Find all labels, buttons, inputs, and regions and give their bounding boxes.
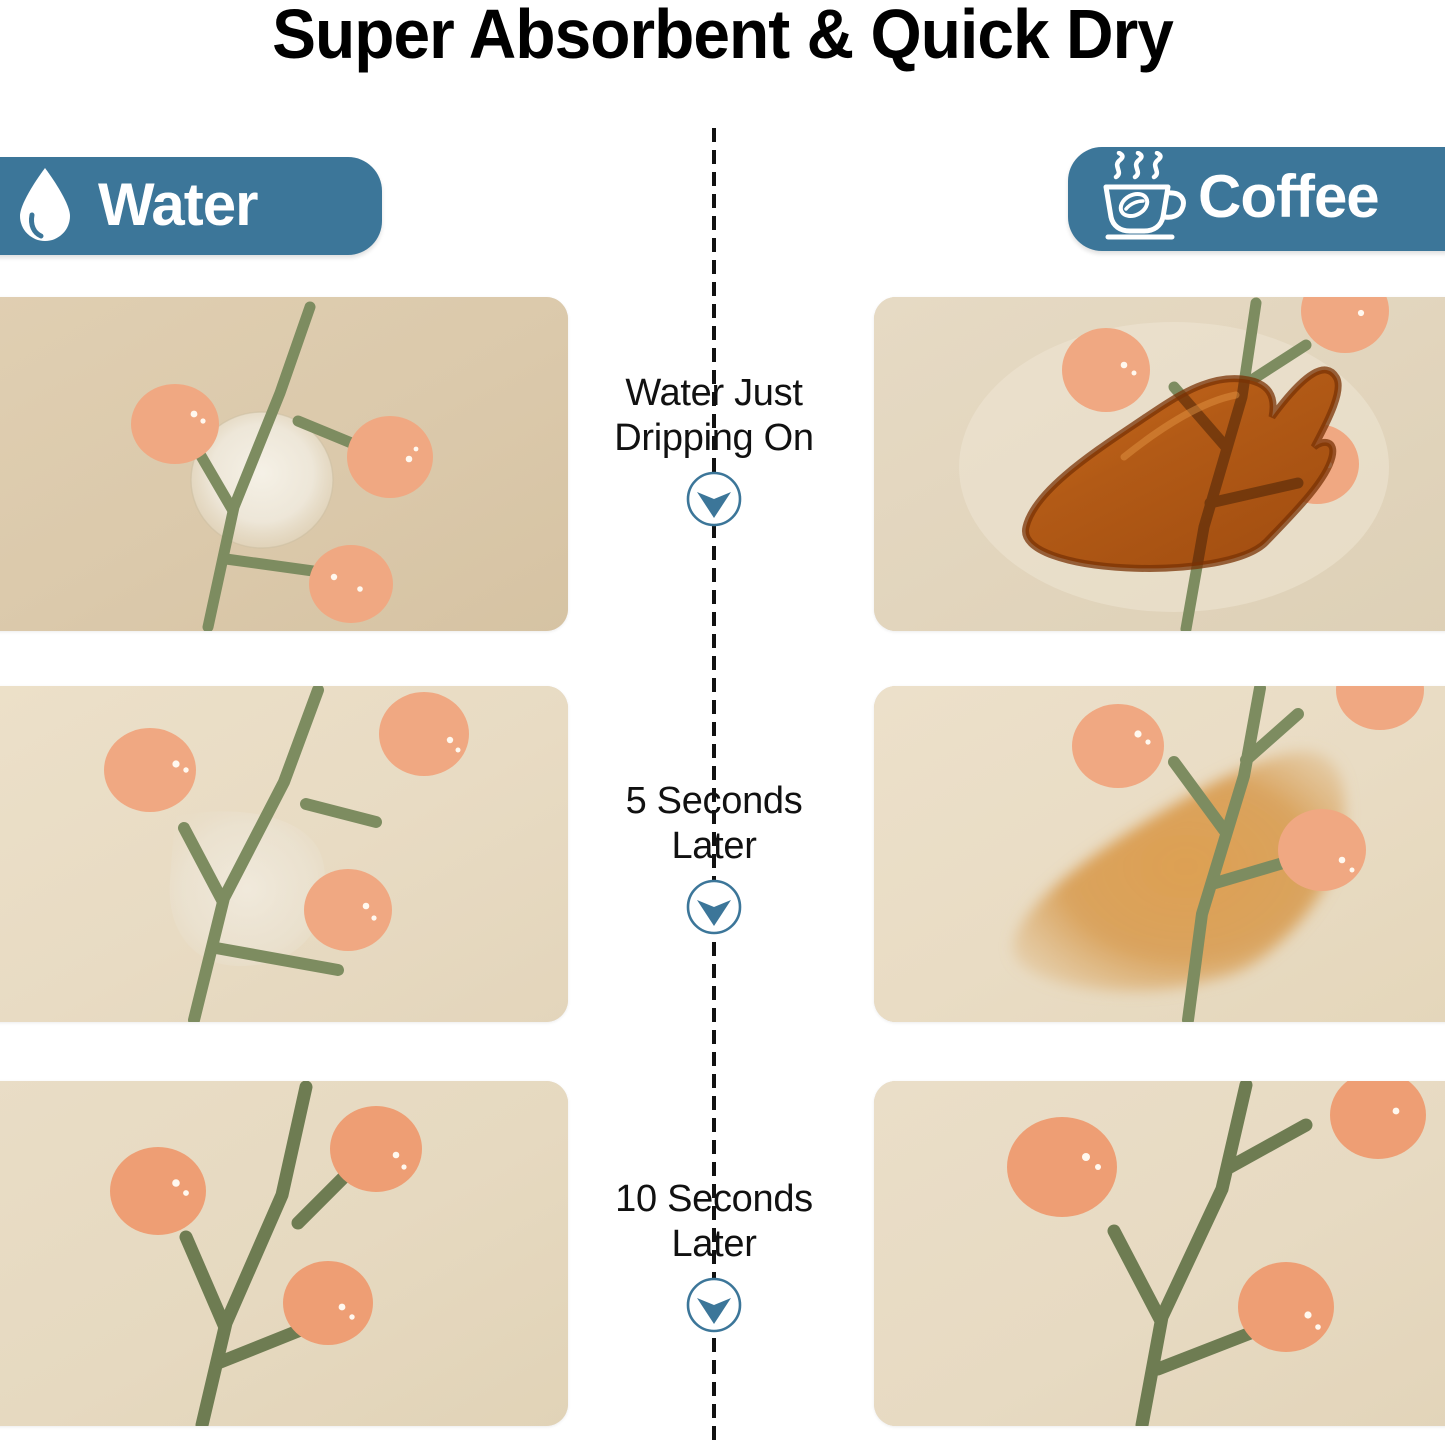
step-2-line-2: Later bbox=[564, 824, 864, 869]
tile-water-row2 bbox=[0, 686, 568, 1022]
step-water-dripping: Water Just Dripping On bbox=[564, 371, 864, 534]
water-drop-icon bbox=[14, 165, 76, 248]
step-1-line-1: Water Just bbox=[564, 371, 864, 416]
step-3-line-1: 10 Seconds bbox=[564, 1177, 864, 1222]
coffee-badge-label: Coffee bbox=[1198, 167, 1379, 227]
water-badge: Water bbox=[0, 157, 382, 255]
tile-coffee-row1 bbox=[874, 297, 1445, 631]
step-5-seconds: 5 Seconds Later bbox=[564, 779, 864, 942]
coffee-cup-icon bbox=[1094, 151, 1192, 248]
page-title: Super Absorbent & Quick Dry bbox=[43, 0, 1401, 74]
step-10-seconds: 10 Seconds Later bbox=[564, 1177, 864, 1340]
water-badge-label: Water bbox=[98, 175, 257, 235]
chevron-down-circle-icon bbox=[684, 877, 744, 942]
coffee-badge: Coffee bbox=[1068, 147, 1445, 251]
tile-water-row1 bbox=[0, 297, 568, 631]
tile-coffee-row2 bbox=[874, 686, 1445, 1022]
chevron-down-circle-icon bbox=[684, 1275, 744, 1340]
tile-water-row3 bbox=[0, 1081, 568, 1426]
step-3-line-2: Later bbox=[564, 1222, 864, 1267]
step-1-line-2: Dripping On bbox=[564, 416, 864, 461]
step-2-line-1: 5 Seconds bbox=[564, 779, 864, 824]
tile-coffee-row3 bbox=[874, 1081, 1445, 1426]
chevron-down-circle-icon bbox=[684, 469, 744, 534]
